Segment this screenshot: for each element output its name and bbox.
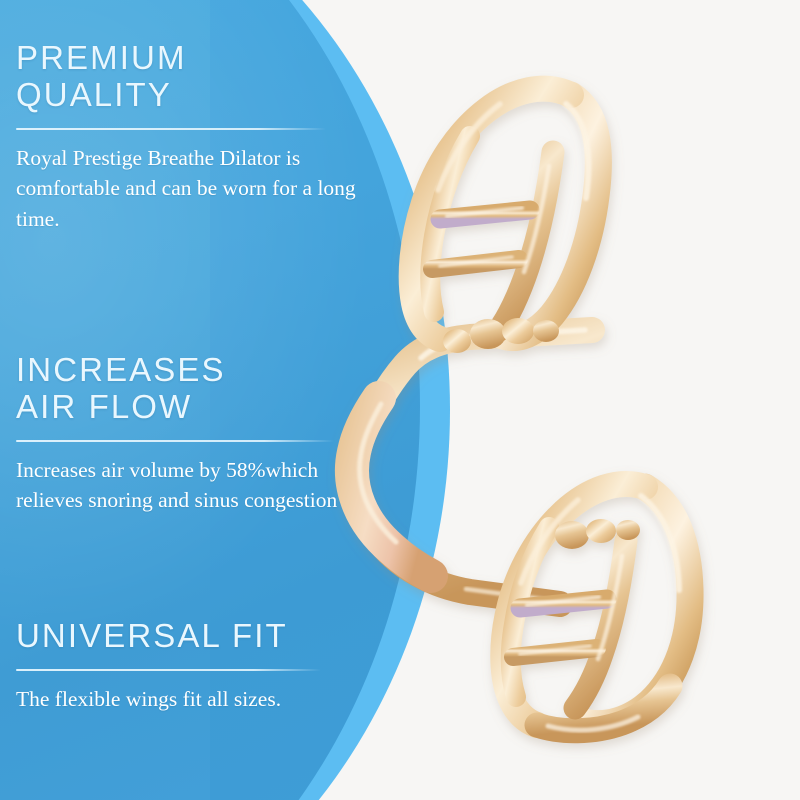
feature-block-universal-fit: UNIVERSAL FIT The flexible wings fit all… xyxy=(16,618,388,714)
infographic-canvas: PREMIUM QUALITY Royal Prestige Breathe D… xyxy=(0,0,800,800)
feature-body: The flexible wings fit all sizes. xyxy=(16,684,368,715)
feature-divider xyxy=(16,669,321,671)
feature-list: PREMIUM QUALITY Royal Prestige Breathe D… xyxy=(0,0,400,800)
feature-block-increases-air-flow: INCREASES AIR FLOW Increases air volume … xyxy=(16,352,388,516)
feature-body: Increases air volume by 58%which relieve… xyxy=(16,455,368,516)
feature-divider xyxy=(16,440,334,442)
feature-block-premium-quality: PREMIUM QUALITY Royal Prestige Breathe D… xyxy=(16,40,388,234)
feature-body: Royal Prestige Breathe Dilator is comfor… xyxy=(16,143,368,235)
feature-heading: PREMIUM QUALITY xyxy=(16,40,388,114)
feature-divider xyxy=(16,128,326,130)
feature-heading: INCREASES AIR FLOW xyxy=(16,352,388,426)
feature-heading: UNIVERSAL FIT xyxy=(16,618,388,655)
